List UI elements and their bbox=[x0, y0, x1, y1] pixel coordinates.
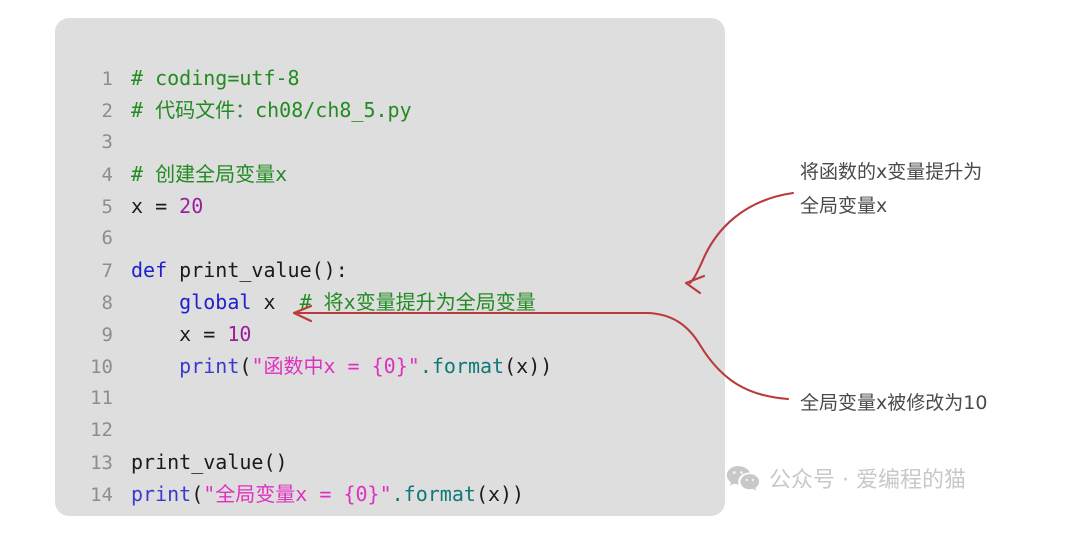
code-token-kw: def bbox=[131, 258, 179, 282]
code-token-plain: print_value() bbox=[131, 450, 288, 474]
line-number: 13 bbox=[55, 447, 113, 479]
code-text: print_value() bbox=[113, 446, 288, 478]
code-text: print("全局变量x = {0}".format(x)) bbox=[113, 478, 524, 510]
line-number: 8 bbox=[55, 287, 113, 319]
code-token-fn: print bbox=[131, 482, 191, 506]
code-token-plain: x = bbox=[131, 194, 179, 218]
code-line: 14print("全局变量x = {0}".format(x)) bbox=[55, 478, 725, 510]
code-line: 10 print("函数中x = {0}".format(x)) bbox=[55, 350, 725, 382]
wechat-icon bbox=[726, 465, 760, 491]
watermark-text: 公众号 · 爱编程的猫 bbox=[769, 462, 966, 494]
code-text: # 创建全局变量x bbox=[113, 158, 287, 190]
line-number: 12 bbox=[55, 414, 113, 446]
code-token-comment: # 代码文件：ch08/ch8_5.py bbox=[131, 98, 412, 122]
code-line: 2# 代码文件：ch08/ch8_5.py bbox=[55, 94, 725, 126]
line-number: 5 bbox=[55, 191, 113, 223]
code-token-attr: .format bbox=[392, 482, 476, 506]
code-token-kw: global bbox=[179, 290, 251, 314]
code-token-attr: .format bbox=[420, 354, 504, 378]
line-number: 6 bbox=[55, 222, 113, 254]
code-text: # 代码文件：ch08/ch8_5.py bbox=[113, 94, 412, 126]
code-token-plain: print_value(): bbox=[179, 258, 348, 282]
code-text: x = 20 bbox=[113, 190, 203, 222]
code-line: 7def print_value(): bbox=[55, 254, 725, 286]
code-line: 13print_value() bbox=[55, 446, 725, 478]
code-token-plain bbox=[131, 354, 179, 378]
code-text: def print_value(): bbox=[113, 254, 348, 286]
code-token-plain: x = bbox=[131, 322, 227, 346]
code-token-plain bbox=[131, 290, 179, 314]
line-number: 9 bbox=[55, 319, 113, 351]
line-number: 10 bbox=[55, 351, 113, 383]
code-text: print("函数中x = {0}".format(x)) bbox=[113, 350, 552, 382]
annotation-top-line1: 将函数的x变量提升为 bbox=[800, 155, 982, 189]
code-line: 4# 创建全局变量x bbox=[55, 158, 725, 190]
code-line: 6 bbox=[55, 222, 725, 254]
code-token-comment: # 创建全局变量x bbox=[131, 162, 287, 186]
line-number: 7 bbox=[55, 255, 113, 287]
code-token-plain: ( bbox=[191, 482, 203, 506]
code-line: 1# coding=utf-8 bbox=[55, 62, 725, 94]
annotation-top: 将函数的x变量提升为 全局变量x bbox=[800, 155, 982, 223]
code-line: 5x = 20 bbox=[55, 190, 725, 222]
code-token-num: 10 bbox=[227, 322, 251, 346]
code-line: 11 bbox=[55, 382, 725, 414]
code-token-plain: (x)) bbox=[504, 354, 552, 378]
line-number: 11 bbox=[55, 382, 113, 414]
code-line: 12 bbox=[55, 414, 725, 446]
code-token-plain: ( bbox=[239, 354, 251, 378]
annotation-bottom: 全局变量x被修改为10 bbox=[800, 386, 987, 420]
code-token-str: "全局变量x = {0}" bbox=[203, 482, 391, 506]
code-text: # coding=utf-8 bbox=[113, 62, 300, 94]
line-number: 4 bbox=[55, 159, 113, 191]
line-number: 3 bbox=[55, 126, 113, 158]
code-token-comment: # coding=utf-8 bbox=[131, 66, 300, 90]
code-line: 8 global x # 将x变量提升为全局变量 bbox=[55, 286, 725, 318]
screenshot-root: 1# coding=utf-82# 代码文件：ch08/ch8_5.py34# … bbox=[0, 0, 1080, 538]
code-text: x = 10 bbox=[113, 318, 251, 350]
code-lines: 1# coding=utf-82# 代码文件：ch08/ch8_5.py34# … bbox=[55, 62, 725, 510]
watermark: 公众号 · 爱编程的猫 bbox=[726, 462, 966, 494]
annotation-bottom-line1: 全局变量x被修改为10 bbox=[800, 386, 987, 420]
code-token-fn: print bbox=[179, 354, 239, 378]
line-number: 1 bbox=[55, 63, 113, 95]
code-token-comment: # 将x变量提升为全局变量 bbox=[300, 290, 536, 314]
annotation-top-line2: 全局变量x bbox=[800, 189, 982, 223]
code-token-plain: (x)) bbox=[476, 482, 524, 506]
code-text: global x # 将x变量提升为全局变量 bbox=[113, 286, 536, 318]
code-token-str: "函数中x = {0}" bbox=[251, 354, 419, 378]
code-line: 3 bbox=[55, 126, 725, 158]
code-token-plain: x bbox=[251, 290, 299, 314]
code-token-num: 20 bbox=[179, 194, 203, 218]
code-line: 9 x = 10 bbox=[55, 318, 725, 350]
line-number: 14 bbox=[55, 479, 113, 511]
code-block: 1# coding=utf-82# 代码文件：ch08/ch8_5.py34# … bbox=[55, 18, 725, 516]
line-number: 2 bbox=[55, 95, 113, 127]
